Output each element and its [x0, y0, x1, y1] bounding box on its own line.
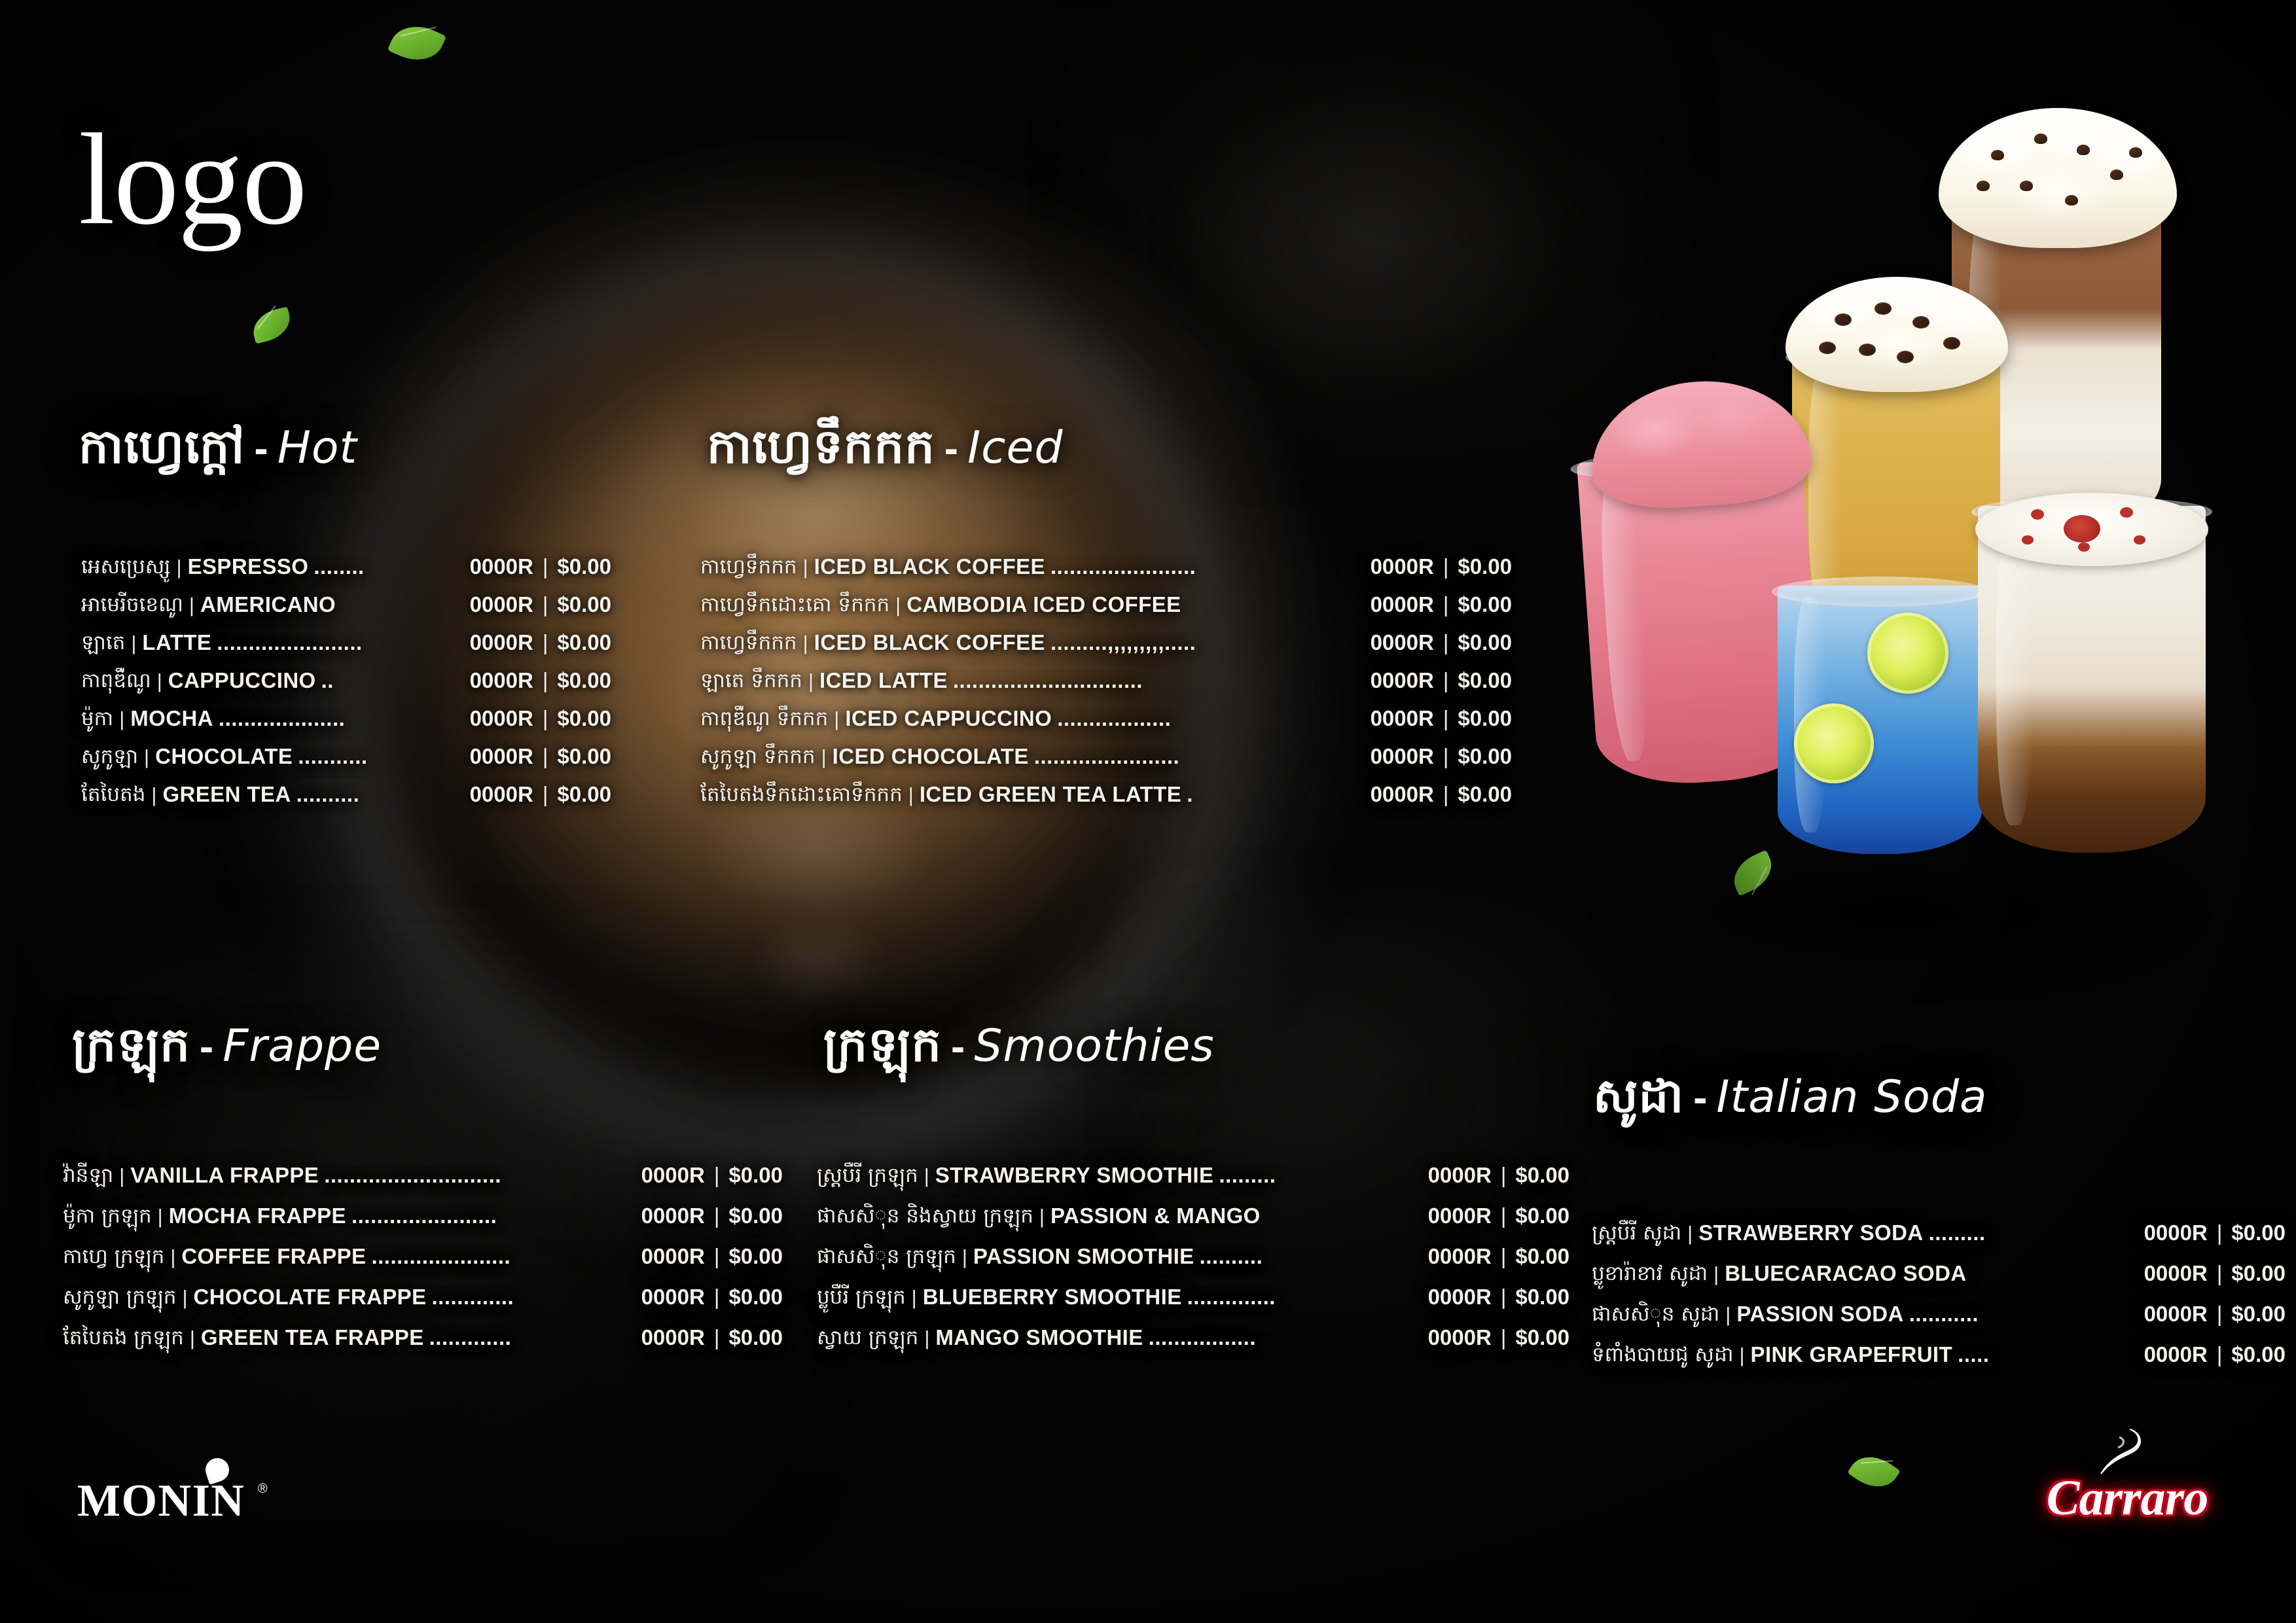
item-leader-dots: .......... [291, 783, 360, 805]
item-price-riel: 0000R [2144, 1303, 2208, 1325]
item-leader-dots: ....................... [1045, 556, 1196, 577]
item-leader-dots: ........ [308, 556, 364, 577]
item-leader-dots: ......... [1924, 1222, 1986, 1243]
item-name-khmer: សូកូឡា ទឹកកក [700, 747, 816, 767]
menu-row-americano[interactable]: អាមេរីចខេណូ | AMERICANO 0000R | $0.00 [81, 577, 611, 615]
section-heading-frappe-dash: - [190, 1023, 223, 1070]
item-price-riel: 0000R [1428, 1286, 1492, 1308]
item-price-divider: | [2208, 1262, 2232, 1284]
item-price-divider: | [1492, 1327, 1516, 1348]
item-name-english: AMERICANO [200, 594, 336, 615]
menu-row-mocha[interactable]: ម៉ូកា | MOCHA .................... 0000R… [81, 691, 611, 729]
item-separator: | [138, 747, 155, 767]
item-name-english: ICED LATTE [819, 669, 948, 691]
item-name-khmer: ប្លូបឺរី ក្រឡុក [817, 1287, 906, 1308]
item-price-divider: | [1434, 556, 1458, 577]
item-price-riel: 0000R [641, 1164, 705, 1186]
item-price-divider: | [705, 1164, 729, 1186]
brand-logo[interactable]: logo [79, 121, 306, 239]
menu-row-passion-smoothie[interactable]: ផាសសិុន ក្រឡុក | PASSION SMOOTHIE ......… [817, 1226, 1570, 1267]
item-name-khmer: កាហ្វេទឹកកក [700, 633, 797, 653]
item-price-usd: $0.00 [1458, 707, 1512, 729]
item-separator: | [183, 595, 200, 615]
menu-row-bluecaracao-soda[interactable]: ប្លូខារ៉ាខាវ សូដា | BLUECARACAO SODA 000… [1592, 1243, 2286, 1284]
item-name-khmer: ផាសសិុន និងស្វាយ ក្រឡុក [817, 1206, 1033, 1226]
cup-gloss [1808, 363, 1842, 614]
item-price-usd: $0.00 [1458, 632, 1512, 653]
item-name-khmer: ទំពាំងបាយជូ សូដា [1592, 1345, 1733, 1365]
section-heading-hot: កាហ្វេក្តៅ-Hot [79, 418, 357, 486]
item-price-riel: 0000R [470, 707, 533, 729]
item-price-riel: 0000R [2144, 1344, 2208, 1365]
item-separator: | [152, 1206, 169, 1226]
item-leader-dots: ............................ [319, 1164, 501, 1186]
item-price-riel: 0000R [1371, 783, 1434, 805]
item-name-khmer: តែបៃតង ក្រឡុក [63, 1328, 184, 1348]
menu-row-strawberry-smoothie[interactable]: ស្ត្របឺរី ក្រឡុក | STRAWBERRY SMOOTHIE .… [817, 1150, 1570, 1186]
item-price-divider: | [533, 745, 558, 767]
item-name-english: MANGO SMOOTHIE [935, 1327, 1143, 1348]
item-price-divider: | [533, 556, 558, 577]
item-name-english: COFFEE FRAPPE [181, 1245, 366, 1267]
item-name-khmer: កាពុឌ៌ីណូ [81, 671, 151, 691]
item-price-riel: 0000R [641, 1245, 705, 1267]
item-name-khmer: ប្លូខារ៉ាខាវ សូដា [1592, 1264, 1708, 1284]
item-name-khmer: តែបៃតងទឹកដោះគោទឹកកក [700, 785, 903, 805]
menu-list-frappe: វ៉ានីឡា | VANILLA FRAPPE ...............… [63, 1150, 783, 1348]
item-price-usd: $0.00 [2231, 1344, 2286, 1365]
chocolate-chip-icon [1991, 150, 2004, 160]
item-leader-dots: ....................... [346, 1205, 497, 1226]
item-price-riel: 0000R [1371, 669, 1434, 691]
item-price-divider: | [1434, 783, 1458, 805]
menu-row-green-tea[interactable]: តែបៃតង | GREEN TEA .......... 0000R | $0… [81, 767, 611, 805]
monin-wordmark: MONIN [77, 1475, 245, 1527]
menu-row-chocolate[interactable]: សូកូឡា | CHOCOLATE ........... 0000R | $… [81, 729, 611, 767]
item-separator: | [164, 1247, 181, 1267]
item-price-divider: | [1434, 745, 1458, 767]
item-price-divider: | [1492, 1245, 1516, 1267]
item-leader-dots: ........... [293, 745, 367, 767]
item-leader-dots: ........... [1904, 1303, 1979, 1325]
chocolate-chip-icon [2034, 134, 2047, 144]
item-price-riel: 0000R [641, 1205, 705, 1226]
item-price-usd: $0.00 [557, 594, 611, 615]
item-separator: | [1719, 1304, 1736, 1325]
item-name-khmer: ផាសសិុន សូដា [1592, 1304, 1719, 1325]
drinks-photo [1564, 115, 2291, 972]
item-leader-dots: ............. [424, 1327, 512, 1348]
item-price-divider: | [1434, 669, 1458, 691]
item-price-usd: $0.00 [557, 556, 611, 577]
item-price-riel: 0000R [470, 632, 533, 653]
section-heading-smoothies-khmer: ក្រឡុក [823, 1017, 942, 1072]
item-price-usd: $0.00 [1458, 594, 1512, 615]
section-heading-hot-khmer: កាហ្វេក្តៅ [79, 419, 245, 474]
menu-row-cappuccino[interactable]: កាពុឌ៌ីណូ | CAPPUCCINO .. 0000R | $0.00 [81, 653, 611, 691]
item-price-riel: 0000R [470, 556, 533, 577]
item-price-riel: 0000R [2144, 1262, 2208, 1284]
item-price-usd: $0.00 [728, 1286, 783, 1308]
item-name-english: MOCHA [130, 707, 213, 729]
item-separator: | [1733, 1345, 1750, 1365]
item-separator: | [903, 785, 920, 805]
item-name-khmer: តែបៃតង [81, 785, 145, 805]
item-name-english: ICED GREEN TEA LATTE [920, 783, 1181, 805]
item-leader-dots: ................. [1143, 1327, 1256, 1348]
menu-row-vanilla-frappe[interactable]: វ៉ានីឡា | VANILLA FRAPPE ...............… [63, 1150, 783, 1186]
item-separator: | [918, 1166, 935, 1186]
item-price-riel: 0000R [1371, 745, 1434, 767]
item-name-english: ESPRESSO [188, 556, 309, 577]
section-heading-iced-english: Iced [967, 422, 1063, 474]
item-leader-dots: ..... [1952, 1344, 1989, 1365]
item-name-english: ICED CHOCOLATE [833, 745, 1029, 767]
item-separator: | [828, 709, 845, 729]
item-separator: | [145, 785, 162, 805]
item-price-usd: $0.00 [1515, 1164, 1570, 1186]
section-heading-frappe-khmer: ក្រឡុក [72, 1017, 190, 1072]
item-separator: | [1033, 1206, 1050, 1226]
section-heading-italian-soda: សូដា-Italian Soda [1593, 1067, 1988, 1135]
item-price-usd: $0.00 [1458, 556, 1512, 577]
item-price-usd: $0.00 [1515, 1286, 1570, 1308]
item-leader-dots: . [1181, 783, 1193, 805]
item-price-riel: 0000R [1371, 594, 1434, 615]
item-price-riel: 0000R [641, 1327, 705, 1348]
item-leader-dots: .........,,,,,,,,,..... [1045, 632, 1196, 653]
coffee-bean-icon [1819, 342, 1836, 354]
item-separator: | [802, 671, 819, 691]
section-heading-soda-khmer: សូដា [1593, 1068, 1684, 1123]
item-price-usd: $0.00 [1458, 745, 1512, 767]
item-name-english: ICED BLACK COFFEE [814, 556, 1045, 577]
item-separator: | [125, 633, 142, 653]
item-name-english: MOCHA FRAPPE [169, 1205, 346, 1226]
item-price-usd: $0.00 [557, 745, 611, 767]
strawberry-powder-decoration [2064, 515, 2100, 543]
chocolate-chip-icon [2065, 195, 2078, 205]
chocolate-chip-icon [2129, 147, 2142, 158]
menu-row-green-tea-frappe[interactable]: តែបៃតង ក្រឡុក | GREEN TEA FRAPPE .......… [63, 1308, 783, 1348]
item-price-divider: | [705, 1286, 729, 1308]
item-separator: | [906, 1287, 923, 1308]
item-separator: | [113, 1166, 130, 1186]
item-price-divider: | [705, 1327, 729, 1348]
chocolate-chip-icon [2110, 169, 2123, 180]
item-price-usd: $0.00 [1458, 783, 1512, 805]
item-separator: | [113, 709, 130, 729]
item-leader-dots: .................... [213, 707, 345, 729]
item-leader-dots: ............. [427, 1286, 514, 1308]
item-price-usd: $0.00 [557, 783, 611, 805]
menu-row-espresso[interactable]: អេសប្រេស្សូ | ESPRESSO ........ 0000R | … [81, 542, 611, 577]
item-leader-dots: ....................... [211, 632, 362, 653]
item-name-khmer: ម៉ូកា [81, 709, 113, 729]
item-price-riel: 0000R [470, 783, 533, 805]
item-price-riel: 0000R [1428, 1327, 1492, 1348]
carraro-logo[interactable]: Carraro [2009, 1427, 2245, 1538]
item-name-english: CAPPUCCINO [168, 669, 316, 691]
item-name-english: BLUECARACAO SODA [1725, 1262, 1966, 1284]
item-name-khmer: សូកូឡា ក្រឡុក [63, 1287, 176, 1308]
latte-foam-top [1975, 493, 2208, 566]
item-price-divider: | [1492, 1164, 1516, 1186]
item-name-english: VANILLA FRAPPE [130, 1164, 319, 1186]
item-price-usd: $0.00 [728, 1164, 783, 1186]
item-price-divider: | [1492, 1286, 1516, 1308]
item-price-divider: | [1434, 707, 1458, 729]
menu-row-passion-soda[interactable]: ផាសសិុន សូដា | PASSION SODA ........... … [1592, 1284, 2286, 1325]
coffee-bean-icon [1897, 351, 1914, 363]
menu-row-blueberry-smoothie[interactable]: ប្លូបឺរី ក្រឡុក | BLUEBERRY SMOOTHIE ...… [817, 1267, 1570, 1308]
item-price-divider: | [2208, 1344, 2232, 1365]
item-price-usd: $0.00 [1515, 1327, 1570, 1348]
item-name-khmer: កាហ្វេទឹកដោះគោ ទឹកកក [700, 595, 889, 615]
item-separator: | [1708, 1264, 1725, 1284]
item-price-riel: 0000R [1428, 1164, 1492, 1186]
item-price-usd: $0.00 [2231, 1303, 2286, 1325]
item-name-khmer: វ៉ានីឡា [63, 1166, 113, 1186]
item-name-english: ICED CAPPUCCINO [845, 707, 1052, 729]
lime-slice-icon [1794, 704, 1874, 783]
item-name-khmer: ស្ត្របឺរី សូដា [1592, 1223, 1681, 1243]
item-price-divider: | [533, 783, 558, 805]
menu-row-coffee-frappe[interactable]: កាហ្វេ ក្រឡុក | COFFEE FRAPPE ..........… [63, 1226, 783, 1267]
lime-slice-icon [1867, 613, 1948, 694]
item-name-khmer: កាហ្វេទឹកកក [700, 557, 797, 577]
item-name-khmer: ម៉ូកា ក្រឡុក [63, 1206, 152, 1226]
item-name-khmer: អាមេរីចខេណូ [81, 595, 183, 615]
item-price-divider: | [705, 1205, 729, 1226]
menu-list-smoothies: ស្ត្របឺរី ក្រឡុក | STRAWBERRY SMOOTHIE .… [817, 1150, 1570, 1348]
item-name-english: ICED BLACK COFFEE [814, 632, 1045, 653]
coffee-bean-icon [1912, 316, 1929, 329]
item-price-riel: 0000R [1371, 556, 1434, 577]
menu-row-cambodia-iced-coffee[interactable]: កាហ្វេទឹកដោះគោ ទឹកកក | CAMBODIA ICED COF… [700, 577, 1512, 615]
item-price-divider: | [1434, 594, 1458, 615]
section-heading-soda-dash: - [1684, 1074, 1716, 1121]
item-price-riel: 0000R [1428, 1205, 1492, 1226]
item-price-riel: 0000R [470, 594, 533, 615]
item-name-english: LATTE [142, 632, 211, 653]
whipped-cream-mocha [1939, 108, 2177, 248]
menu-list-italian-soda: ស្ត្របឺរី សូដា | STRAWBERRY SODA .......… [1592, 1208, 2286, 1365]
item-price-usd: $0.00 [2231, 1262, 2286, 1284]
item-leader-dots: ......... [1213, 1164, 1276, 1186]
carraro-wordmark: Carraro [2009, 1470, 2245, 1527]
section-heading-iced-khmer: កាហ្វេទឹកកក [707, 419, 935, 474]
item-price-riel: 0000R [1428, 1245, 1492, 1267]
item-name-khmer: ស្វាយ ក្រឡុក [817, 1328, 918, 1348]
chocolate-chip-icon [2020, 181, 2033, 191]
menu-list-hot: អេសប្រេស្សូ | ESPRESSO ........ 0000R | … [81, 542, 611, 805]
item-separator: | [816, 747, 833, 767]
item-name-khmer: សូកូឡា [81, 747, 138, 767]
item-price-riel: 0000R [1371, 707, 1434, 729]
item-price-usd: $0.00 [557, 707, 611, 729]
item-name-english: CHOCOLATE [155, 745, 293, 767]
section-heading-iced-dash: - [935, 425, 967, 472]
item-separator: | [797, 557, 814, 577]
item-separator: | [151, 671, 168, 691]
item-price-usd: $0.00 [728, 1205, 783, 1226]
item-name-khmer: ផាសសិុន ក្រឡុក [817, 1247, 956, 1267]
section-heading-iced: កាហ្វេទឹកកក-Iced [707, 418, 1064, 486]
item-leader-dots: .................. [1052, 707, 1171, 729]
item-name-khmer: ស្ត្របឺរី ក្រឡុក [817, 1166, 918, 1186]
menu-row-iced-chocolate[interactable]: សូកូឡា ទឹកកក | ICED CHOCOLATE ..........… [700, 729, 1512, 767]
item-name-english: PINK GRAPEFRUIT [1751, 1344, 1953, 1365]
menu-row-iced-latte[interactable]: ឡាតេ ទឹកកក | ICED LATTE ................… [700, 653, 1512, 691]
item-name-english: STRAWBERRY SMOOTHIE [935, 1164, 1214, 1186]
item-price-riel: 0000R [470, 669, 533, 691]
item-name-khmer: កាហ្វេ ក្រឡុក [63, 1247, 164, 1267]
item-name-khmer: ឡាតេ [81, 633, 125, 653]
section-heading-soda-english: Italian Soda [1716, 1071, 1987, 1123]
item-separator: | [797, 633, 814, 653]
item-separator: | [918, 1328, 935, 1348]
item-name-english: GREEN TEA FRAPPE [201, 1327, 424, 1348]
item-leader-dots: .............. [1182, 1286, 1276, 1308]
item-price-usd: $0.00 [728, 1245, 783, 1267]
monin-registered-mark: ® [258, 1482, 268, 1497]
menu-row-mango-smoothie[interactable]: ស្វាយ ក្រឡុក | MANGO SMOOTHIE ..........… [817, 1308, 1570, 1348]
strawberry-ice-mound [1587, 374, 1814, 514]
item-name-english: CAMBODIA ICED COFFEE [906, 594, 1181, 615]
item-price-riel: 0000R [1371, 632, 1434, 653]
item-name-english: PASSION & MANGO [1050, 1205, 1261, 1226]
menu-row-passion-mango[interactable]: ផាសសិុន និងស្វាយ ក្រឡុក | PASSION & MANG… [817, 1186, 1570, 1226]
item-name-english: BLUEBERRY SMOOTHIE [923, 1286, 1182, 1308]
menu-row-latte[interactable]: ឡាតេ | LATTE ....................... 000… [81, 615, 611, 653]
item-name-english: CHOCOLATE FRAPPE [194, 1286, 427, 1308]
item-price-divider: | [1434, 632, 1458, 653]
item-name-english: PASSION SODA [1736, 1303, 1903, 1325]
chocolate-chip-icon [1977, 181, 1990, 191]
item-separator: | [1681, 1223, 1698, 1243]
menu-row-iced-cappuccino[interactable]: កាពុឌ៌ីណូ ទឹកកក | ICED CAPPUCCINO ......… [700, 691, 1512, 729]
cup-gloss [1996, 520, 2033, 825]
item-leader-dots: .............................. [948, 669, 1143, 691]
item-price-divider: | [2208, 1303, 2232, 1325]
item-price-riel: 0000R [641, 1286, 705, 1308]
item-price-divider: | [533, 669, 558, 691]
item-name-english: PASSION SMOOTHIE [973, 1245, 1194, 1267]
menu-row-iced-green-tea-latte[interactable]: តែបៃតងទឹកដោះគោទឹកកក | ICED GREEN TEA LAT… [700, 767, 1512, 805]
item-price-divider: | [2208, 1222, 2232, 1243]
section-heading-hot-english: Hot [278, 422, 357, 474]
item-separator: | [171, 557, 188, 577]
item-price-usd: $0.00 [557, 669, 611, 691]
item-price-usd: $0.00 [1515, 1245, 1570, 1267]
menu-row-chocolate-frappe[interactable]: សូកូឡា ក្រឡុក | CHOCOLATE FRAPPE .......… [63, 1267, 783, 1308]
item-price-divider: | [533, 632, 558, 653]
coffee-bean-icon [1874, 302, 1892, 315]
coffee-bean-icon [1859, 344, 1876, 356]
section-heading-frappe-english: Frappe [223, 1020, 382, 1072]
item-price-divider: | [533, 707, 558, 729]
section-heading-frappe: ក្រឡុក-Frappe [72, 1016, 382, 1084]
item-price-divider: | [705, 1245, 729, 1267]
item-leader-dots: ....................... [1029, 745, 1179, 767]
menu-row-pink-grapefruit[interactable]: ទំពាំងបាយជូ សូដា | PINK GRAPEFRUIT .....… [1592, 1325, 2286, 1365]
item-price-riel: 0000R [2144, 1222, 2208, 1243]
item-leader-dots: .. [316, 669, 334, 691]
item-price-divider: | [533, 594, 558, 615]
item-separator: | [889, 595, 906, 615]
section-heading-smoothies-english: Smoothies [974, 1020, 1215, 1072]
section-heading-smoothies: ក្រឡុក-Smoothies [823, 1016, 1215, 1084]
monin-logo[interactable]: MONIN ® [77, 1458, 293, 1527]
item-price-usd: $0.00 [1515, 1205, 1570, 1226]
coffee-bean-icon [1943, 337, 1960, 349]
item-price-usd: $0.00 [728, 1327, 783, 1348]
item-separator: | [176, 1287, 193, 1308]
item-price-usd: $0.00 [2231, 1222, 2286, 1243]
menu-row-mocha-frappe[interactable]: ម៉ូកា ក្រឡុក | MOCHA FRAPPE ............… [63, 1186, 783, 1226]
item-leader-dots: .......... [1194, 1245, 1263, 1267]
drinks-photo-shadow [1604, 847, 2193, 978]
item-name-english: STRAWBERRY SODA [1698, 1222, 1923, 1243]
item-name-khmer: ឡាតេ ទឹកកក [700, 671, 802, 691]
item-leader-dots: ...................... [366, 1245, 511, 1267]
item-separator: | [184, 1328, 201, 1348]
drink-blue-soda-cup [1778, 586, 1982, 854]
item-price-usd: $0.00 [1458, 669, 1512, 691]
menu-row-iced-black-coffee-2[interactable]: កាហ្វេទឹកកក | ICED BLACK COFFEE ........… [700, 615, 1512, 653]
section-heading-smoothies-dash: - [942, 1023, 974, 1070]
cup-rim [1772, 577, 1988, 607]
item-price-usd: $0.00 [557, 632, 611, 653]
item-name-khmer: កាពុឌ៌ីណូ ទឹកកក [700, 709, 828, 729]
chocolate-chip-icon [2077, 145, 2090, 155]
item-price-divider: | [1492, 1205, 1516, 1226]
coffee-bean-icon [1835, 313, 1852, 326]
item-name-khmer: អេសប្រេស្សូ [81, 557, 171, 577]
section-heading-hot-dash: - [245, 425, 277, 472]
item-separator: | [956, 1247, 973, 1267]
menu-row-iced-black-coffee[interactable]: កាហ្វេទឹកកក | ICED BLACK COFFEE ........… [700, 542, 1512, 577]
menu-list-iced: កាហ្វេទឹកកក | ICED BLACK COFFEE ........… [700, 542, 1512, 805]
item-price-riel: 0000R [470, 745, 533, 767]
menu-row-strawberry-soda[interactable]: ស្ត្របឺរី សូដា | STRAWBERRY SODA .......… [1592, 1208, 2286, 1243]
item-name-english: GREEN TEA [162, 783, 291, 805]
